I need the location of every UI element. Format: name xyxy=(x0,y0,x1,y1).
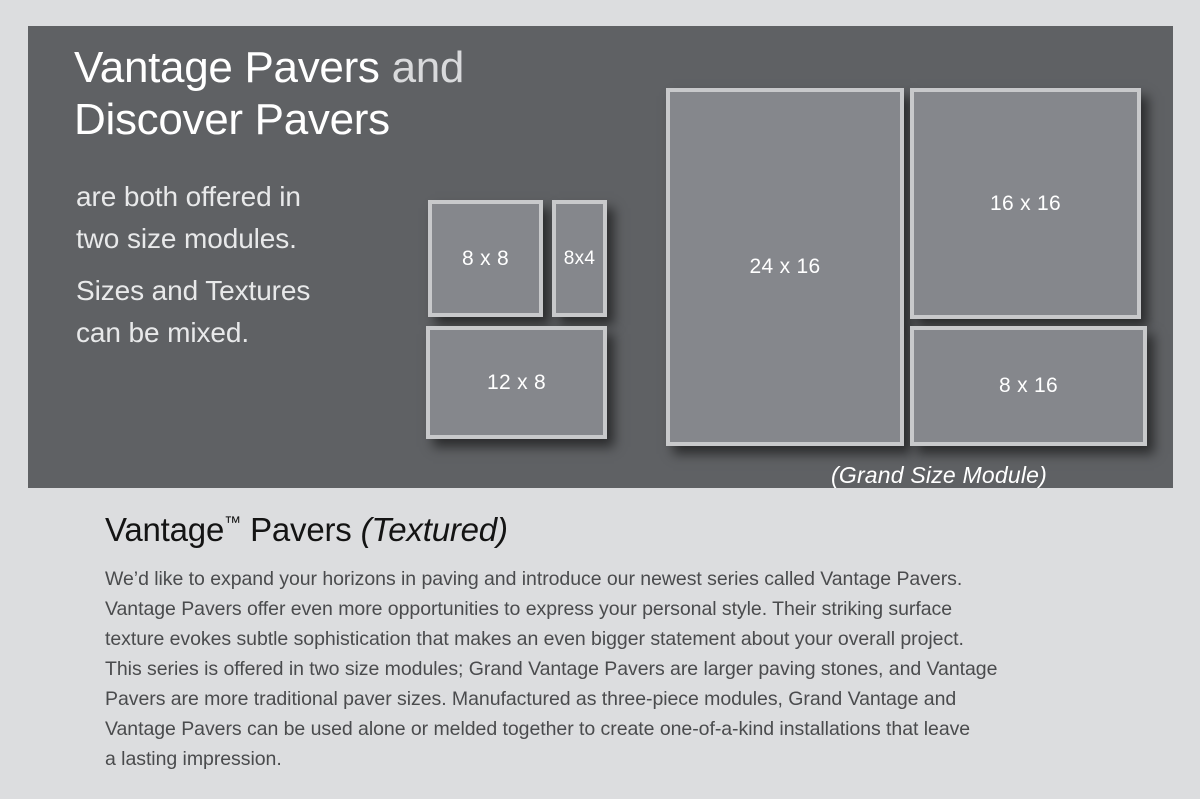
description-heading: Vantage™ Pavers (Textured) xyxy=(105,511,508,549)
paver-label-8x16: 8 x 16 xyxy=(999,374,1058,398)
paver-swatch-8x8: 8 x 8 xyxy=(428,200,543,317)
description-body-line-4: This series is offered in two size modul… xyxy=(105,654,1060,684)
hero-title-conjunction: and xyxy=(380,43,464,92)
paver-label-8x4: 8x4 xyxy=(564,248,596,270)
paver-label-24x16: 24 x 16 xyxy=(750,255,821,279)
paver-swatch-8x16: 8 x 16 xyxy=(910,326,1147,446)
hero-title: Vantage Pavers and Discover Pavers xyxy=(74,42,634,146)
paver-label-16x16: 16 x 16 xyxy=(990,192,1061,216)
heading-brand-name: Vantage xyxy=(105,511,224,548)
hero-subtitle-line-1: are both offered in xyxy=(76,176,406,218)
grand-size-module-caption: (Grand Size Module) xyxy=(794,462,1084,489)
hero-subtitle-line-2: two size modules. xyxy=(76,218,406,260)
description-body-line-2: Vantage Pavers offer even more opportuni… xyxy=(105,594,1060,624)
hero-subtitle-line-4: can be mixed. xyxy=(76,312,406,354)
hero-subtitle: are both offered in two size modules. Si… xyxy=(76,176,406,354)
page-root: Vantage Pavers and Discover Pavers are b… xyxy=(0,0,1200,799)
paver-label-12x8: 12 x 8 xyxy=(487,371,546,395)
paver-swatch-24x16: 24 x 16 xyxy=(666,88,904,446)
hero-subtitle-line-3: Sizes and Textures xyxy=(76,270,406,312)
description-body-line-5: Pavers are more traditional paver sizes.… xyxy=(105,684,1060,714)
description-body: We’d like to expand your horizons in pav… xyxy=(105,564,1060,774)
description-body-line-6: Vantage Pavers can be used alone or meld… xyxy=(105,714,1060,744)
hero-panel: Vantage Pavers and Discover Pavers are b… xyxy=(28,26,1173,488)
paver-swatch-16x16: 16 x 16 xyxy=(910,88,1141,319)
heading-product-name: Pavers xyxy=(241,511,360,548)
description-body-line-3: texture evokes subtle sophistication tha… xyxy=(105,624,1060,654)
hero-title-strong: Vantage Pavers xyxy=(74,43,380,92)
hero-title-line2: Discover Pavers xyxy=(74,95,390,144)
description-body-line-1: We’d like to expand your horizons in pav… xyxy=(105,564,1060,594)
paver-swatch-12x8: 12 x 8 xyxy=(426,326,607,439)
description-body-line-7: a lasting impression. xyxy=(105,744,1060,774)
paver-swatch-8x4: 8x4 xyxy=(552,200,607,317)
description-section: Vantage™ Pavers (Textured) We’d like to … xyxy=(0,488,1200,799)
heading-qualifier: (Textured) xyxy=(361,511,508,548)
trademark-icon: ™ xyxy=(224,513,241,532)
paver-label-8x8: 8 x 8 xyxy=(462,247,509,271)
